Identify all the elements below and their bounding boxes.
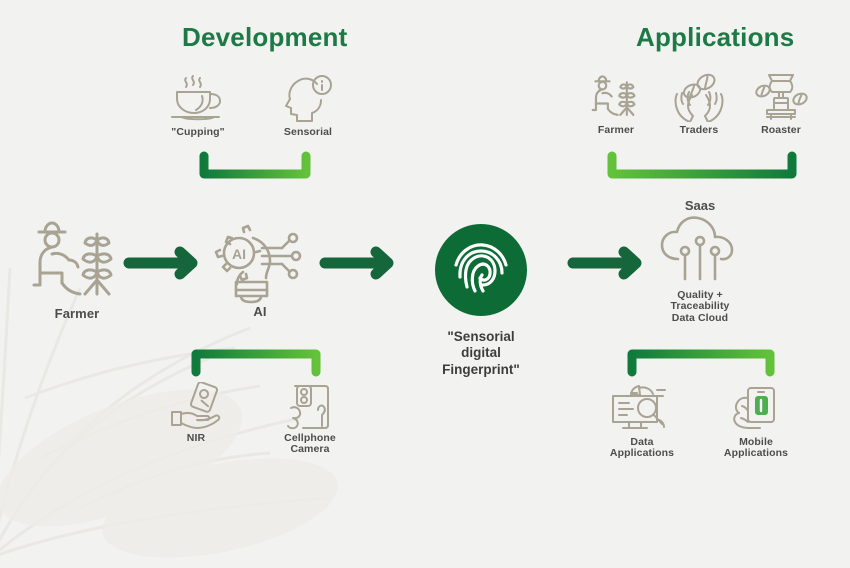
node-ai[interactable]: AI AI	[205, 220, 315, 319]
hand-smartphone-icon	[726, 384, 786, 434]
hands-coffee-beans-icon	[671, 72, 727, 122]
node-label: Farmer	[55, 307, 100, 321]
bracket-applications-bottom	[622, 334, 780, 382]
node-traders[interactable]: Traders	[670, 72, 728, 136]
node-nir[interactable]: NIR	[166, 382, 226, 444]
saas-caption: Saas	[685, 198, 715, 213]
node-sensorial-digital-fingerprint[interactable]: "Sensorial digital Fingerprint"	[426, 224, 536, 378]
node-label: "Sensorial digital Fingerprint"	[426, 329, 536, 378]
cellphone-camera-icon	[281, 382, 339, 430]
node-sensorial[interactable]: Sensorial	[278, 72, 338, 138]
heading-applications: Applications	[636, 22, 794, 53]
coffee-cup-icon	[169, 72, 227, 124]
hand-nir-device-icon	[168, 382, 224, 430]
node-label: Roaster	[761, 125, 801, 136]
ai-lightbulb-icon: AI	[210, 220, 310, 304]
diagram-canvas: Development Applications "Cupping" Senso…	[0, 0, 850, 478]
farmer-plant-icon	[29, 218, 125, 304]
head-sensory-icon	[281, 72, 335, 124]
node-label: Mobile Applications	[724, 437, 788, 460]
node-cupping[interactable]: "Cupping"	[166, 72, 230, 138]
node-mobile-applications[interactable]: Mobile Applications	[712, 384, 800, 460]
node-label: Traders	[680, 125, 719, 136]
node-label: Quality + Traceability Data Cloud	[648, 290, 752, 324]
cloud-circuit-icon	[658, 215, 742, 287]
node-saas[interactable]: Saas Quality + Traceability Data Cloud	[648, 198, 752, 324]
bracket-applications-top	[604, 148, 800, 196]
node-data-applications[interactable]: Data Applications	[598, 384, 686, 460]
arrow-fingerprint-to-saas	[566, 246, 650, 280]
arrow-farmer-to-ai	[122, 246, 206, 280]
bracket-development-top	[196, 148, 314, 196]
node-app-farmer[interactable]: Farmer	[588, 72, 644, 136]
node-label: Farmer	[598, 125, 634, 136]
node-label: "Cupping"	[171, 127, 224, 138]
node-roaster[interactable]: Roaster	[752, 72, 810, 136]
svg-text:AI: AI	[232, 246, 246, 262]
node-cellphone-camera[interactable]: Cellphone Camera	[278, 382, 342, 456]
node-label: Sensorial	[284, 127, 332, 138]
coffee-roaster-machine-icon	[753, 72, 809, 122]
farmer-plant-icon	[590, 72, 642, 122]
arrow-ai-to-fingerprint	[318, 246, 402, 280]
monitor-analytics-icon	[609, 384, 675, 434]
fingerprint-circle	[435, 224, 527, 316]
node-farmer[interactable]: Farmer	[22, 218, 132, 321]
bracket-development-bottom	[186, 334, 326, 382]
node-label: NIR	[187, 433, 205, 444]
fingerprint-icon	[450, 239, 512, 301]
node-label: Data Applications	[610, 437, 674, 460]
node-label: AI	[253, 305, 266, 319]
heading-development: Development	[182, 22, 347, 53]
node-label: Cellphone Camera	[284, 433, 336, 456]
